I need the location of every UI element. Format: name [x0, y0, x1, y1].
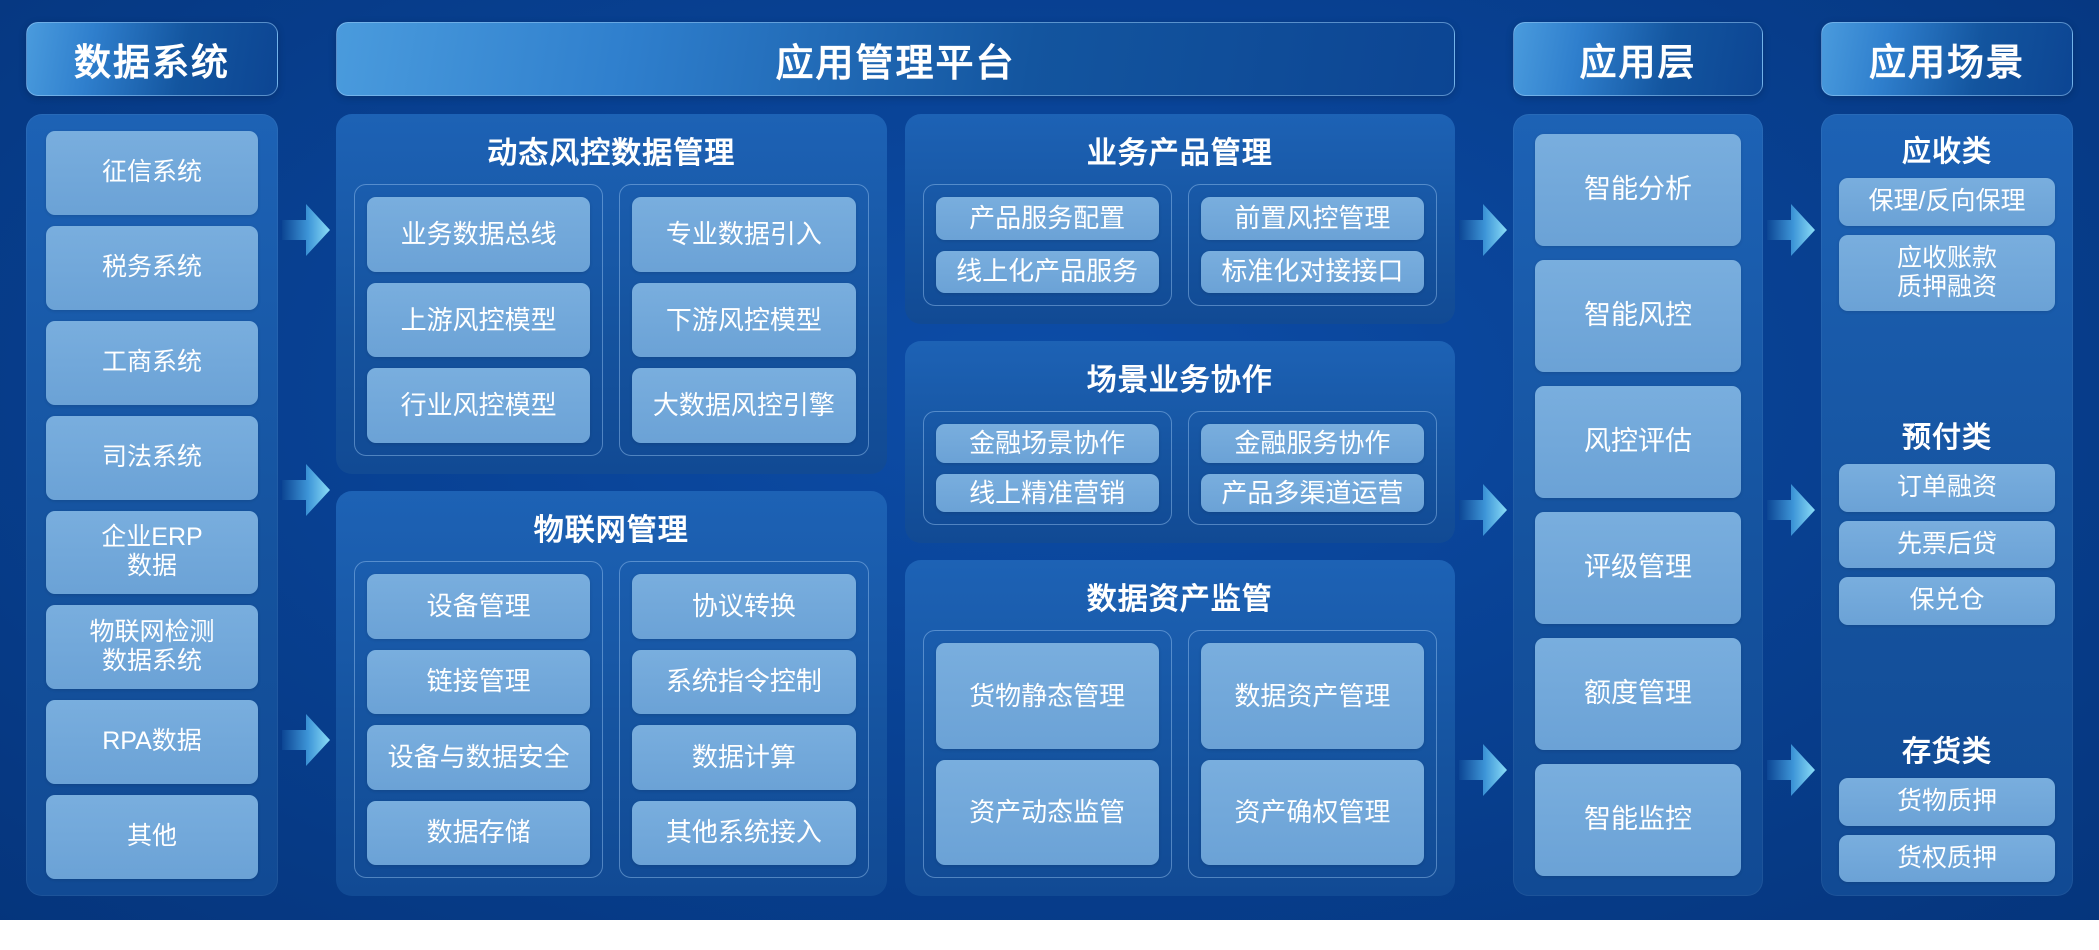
panel-subgroup: 前置风控管理 标准化对接接口: [1188, 184, 1437, 306]
scenario-group-inventory: 存货类 货物质押 货权质押: [1839, 728, 2055, 882]
platform-panels: 动态风控数据管理 业务数据总线 上游风控模型 行业风控模型 专业数据引入 下游风…: [336, 114, 1455, 896]
panel-scenario-business-collaboration: 场景业务协作 金融场景协作 线上精准营销 金融服务协作 产品多渠道运营: [905, 341, 1456, 543]
panel-item[interactable]: 协议转换: [632, 574, 855, 639]
arrow-right-icon: [1459, 742, 1507, 798]
list-item-data-system[interactable]: 企业ERP数据: [46, 511, 258, 595]
panel-subgroup: 金融服务协作 产品多渠道运营: [1188, 411, 1437, 525]
panel-item[interactable]: 前置风控管理: [1201, 197, 1424, 240]
column-header-application-platform: 应用管理平台: [336, 22, 1455, 96]
panel-business-product-management: 业务产品管理 产品服务配置 线上化产品服务 前置风控管理 标准化对接接口: [905, 114, 1456, 324]
panel-item[interactable]: 业务数据总线: [367, 197, 590, 272]
list-item-data-system[interactable]: 征信系统: [46, 131, 258, 215]
panel-item[interactable]: 大数据风控引擎: [632, 368, 855, 443]
arrow-right-icon: [1767, 742, 1815, 798]
panel-item[interactable]: 产品服务配置: [936, 197, 1159, 240]
panel-title: 业务产品管理: [923, 128, 1438, 172]
panel-subgroup: 产品服务配置 线上化产品服务: [923, 184, 1172, 306]
panel-item[interactable]: 设备与数据安全: [367, 725, 590, 790]
column-application-scenarios: 应用场景 应收类 保理/反向保理 应收账款质押融资 预付类 订单融资 先票后贷 …: [1821, 22, 2073, 896]
panel-item[interactable]: 系统指令控制: [632, 650, 855, 715]
panel-item[interactable]: 线上化产品服务: [936, 251, 1159, 294]
panel-item[interactable]: 链接管理: [367, 650, 590, 715]
arrow-right-icon: [282, 202, 330, 258]
platform-column-left: 动态风控数据管理 业务数据总线 上游风控模型 行业风控模型 专业数据引入 下游风…: [336, 114, 887, 896]
panel-item[interactable]: 货物静态管理: [936, 643, 1159, 748]
panel-item[interactable]: 金融服务协作: [1201, 424, 1424, 463]
panel-item[interactable]: 设备管理: [367, 574, 590, 639]
data-systems-list: 征信系统 税务系统 工商系统 司法系统 企业ERP数据 物联网检测数据系统 RP…: [26, 114, 278, 896]
panel-item[interactable]: 数据存储: [367, 801, 590, 866]
scenarios-list: 应收类 保理/反向保理 应收账款质押融资 预付类 订单融资 先票后贷 保兑仓: [1821, 114, 2073, 896]
list-item-application[interactable]: 智能风控: [1535, 260, 1741, 372]
panel-title: 动态风控数据管理: [354, 128, 869, 172]
list-item-scenario[interactable]: 保理/反向保理: [1839, 178, 2055, 226]
list-item-application[interactable]: 额度管理: [1535, 638, 1741, 750]
panel-item[interactable]: 金融场景协作: [936, 424, 1159, 463]
architecture-diagram: 数据系统 征信系统 税务系统 工商系统 司法系统 企业ERP数据 物联网检测数据…: [0, 0, 2099, 920]
arrow-right-icon: [282, 712, 330, 768]
connector-group-data-to-platform: [278, 22, 336, 896]
panel-subgroup: 业务数据总线 上游风控模型 行业风控模型: [354, 184, 603, 456]
column-application-layer: 应用层 智能分析 智能风控 风控评估 评级管理 额度管理 智能监控: [1513, 22, 1763, 896]
arrow-right-icon: [282, 462, 330, 518]
panel-subgroup: 数据资产管理 资产确权管理: [1188, 630, 1437, 878]
panel-item[interactable]: 上游风控模型: [367, 283, 590, 358]
list-item-data-system[interactable]: 司法系统: [46, 416, 258, 500]
panel-item[interactable]: 数据计算: [632, 725, 855, 790]
panel-item[interactable]: 产品多渠道运营: [1201, 474, 1424, 513]
panel-item[interactable]: 专业数据引入: [632, 197, 855, 272]
panel-item[interactable]: 资产确权管理: [1201, 760, 1424, 865]
list-item-scenario[interactable]: 保兑仓: [1839, 577, 2055, 625]
panel-item[interactable]: 下游风控模型: [632, 283, 855, 358]
list-item-scenario[interactable]: 货权质押: [1839, 835, 2055, 883]
panel-title: 场景业务协作: [923, 355, 1438, 399]
list-item-scenario[interactable]: 订单融资: [1839, 464, 2055, 512]
scenario-group-title: 存货类: [1839, 728, 2055, 770]
list-item-data-system[interactable]: 物联网检测数据系统: [46, 605, 258, 689]
panel-subgroup: 协议转换 系统指令控制 数据计算 其他系统接入: [619, 561, 868, 878]
list-item-application[interactable]: 智能分析: [1535, 134, 1741, 246]
panel-item[interactable]: 行业风控模型: [367, 368, 590, 443]
panel-subgroup: 专业数据引入 下游风控模型 大数据风控引擎: [619, 184, 868, 456]
list-item-data-system[interactable]: 其他: [46, 795, 258, 879]
list-item-scenario[interactable]: 应收账款质押融资: [1839, 235, 2055, 311]
application-layer-list: 智能分析 智能风控 风控评估 评级管理 额度管理 智能监控: [1513, 114, 1763, 896]
arrow-right-icon: [1459, 482, 1507, 538]
scenario-group-prepaid: 预付类 订单融资 先票后贷 保兑仓: [1839, 414, 2055, 625]
panel-item[interactable]: 线上精准营销: [936, 474, 1159, 513]
scenario-group-receivables: 应收类 保理/反向保理 应收账款质押融资: [1839, 128, 2055, 311]
list-item-application[interactable]: 智能监控: [1535, 764, 1741, 876]
panel-data-asset-supervision: 数据资产监管 货物静态管理 资产动态监管 数据资产管理 资产确权管理: [905, 560, 1456, 896]
panel-dynamic-risk-data-management: 动态风控数据管理 业务数据总线 上游风控模型 行业风控模型 专业数据引入 下游风…: [336, 114, 887, 474]
scenario-group-title: 应收类: [1839, 128, 2055, 170]
platform-column-right: 业务产品管理 产品服务配置 线上化产品服务 前置风控管理 标准化对接接口: [905, 114, 1456, 896]
panel-subgroup: 货物静态管理 资产动态监管: [923, 630, 1172, 878]
list-item-data-system[interactable]: 税务系统: [46, 226, 258, 310]
panel-iot-management: 物联网管理 设备管理 链接管理 设备与数据安全 数据存储 协议转换 系统指令控制: [336, 491, 887, 896]
connector-group-platform-to-applayer: [1455, 22, 1513, 896]
column-header-application-scenarios: 应用场景: [1821, 22, 2073, 96]
arrow-right-icon: [1459, 202, 1507, 258]
list-item-data-system[interactable]: 工商系统: [46, 321, 258, 405]
scenario-group-title: 预付类: [1839, 414, 2055, 456]
panel-item[interactable]: 数据资产管理: [1201, 643, 1424, 748]
arrow-right-icon: [1767, 202, 1815, 258]
panel-item[interactable]: 资产动态监管: [936, 760, 1159, 865]
panel-subgroup: 金融场景协作 线上精准营销: [923, 411, 1172, 525]
list-item-application[interactable]: 评级管理: [1535, 512, 1741, 624]
column-header-data-systems: 数据系统: [26, 22, 278, 96]
column-application-platform: 应用管理平台 动态风控数据管理 业务数据总线 上游风控模型 行业风控模型: [336, 22, 1455, 896]
panel-item[interactable]: 标准化对接接口: [1201, 251, 1424, 294]
list-item-scenario[interactable]: 货物质押: [1839, 778, 2055, 826]
column-data-systems: 数据系统 征信系统 税务系统 工商系统 司法系统 企业ERP数据 物联网检测数据…: [26, 22, 278, 896]
panel-subgroup: 设备管理 链接管理 设备与数据安全 数据存储: [354, 561, 603, 878]
panel-title: 物联网管理: [354, 505, 869, 549]
list-item-application[interactable]: 风控评估: [1535, 386, 1741, 498]
panel-title: 数据资产监管: [923, 574, 1438, 618]
diagram-canvas: 数据系统 征信系统 税务系统 工商系统 司法系统 企业ERP数据 物联网检测数据…: [0, 0, 2099, 950]
panel-item[interactable]: 其他系统接入: [632, 801, 855, 866]
arrow-right-icon: [1767, 482, 1815, 538]
bottom-strip: [0, 920, 2099, 950]
connector-group-applayer-to-scenarios: [1763, 22, 1821, 896]
column-header-application-layer: 应用层: [1513, 22, 1763, 96]
list-item-scenario[interactable]: 先票后贷: [1839, 521, 2055, 569]
list-item-data-system[interactable]: RPA数据: [46, 700, 258, 784]
